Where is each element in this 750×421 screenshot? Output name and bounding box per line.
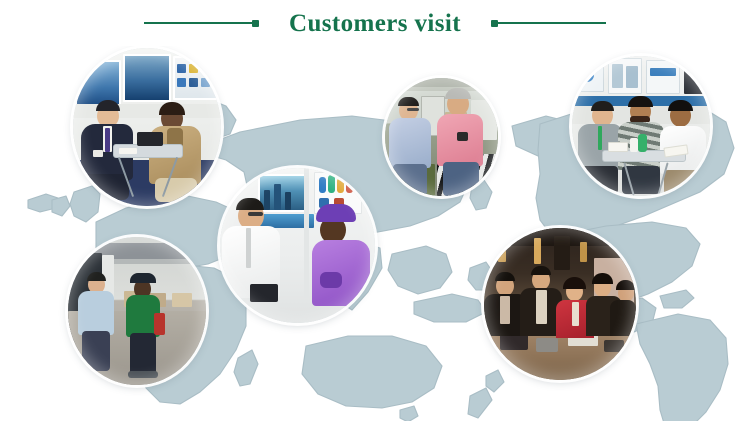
person-5-placket (246, 228, 251, 268)
person-9-lanyard (598, 126, 602, 150)
poster-building-2 (274, 184, 281, 210)
paper-cup (630, 138, 638, 152)
booth-counter (73, 104, 221, 118)
notebook (608, 142, 628, 152)
person-1-legs (83, 174, 129, 200)
person-8-jeans (443, 162, 479, 196)
landmass-caribbean (660, 290, 694, 308)
product-swatch-1 (177, 64, 186, 73)
pendant-light-2 (534, 238, 541, 264)
landmass-south-america (636, 314, 728, 421)
person-16-dark-suit (610, 300, 636, 336)
person-7-blue-shirt (389, 118, 431, 168)
crate-3 (172, 293, 192, 307)
product-box-2 (626, 66, 638, 88)
photo-circle-customer-negotiation[interactable] (572, 56, 710, 196)
title-decoration-right (491, 17, 606, 29)
decoration-dot-left (252, 20, 259, 27)
photo-4-scene (385, 78, 498, 196)
landmass-southeast-asia (388, 246, 452, 294)
person-12-inner-shirt (500, 296, 510, 324)
photo-2-scene (68, 237, 206, 385)
photo-circle-meeting-booth[interactable] (73, 48, 221, 206)
booth-divider (304, 168, 309, 298)
person-14-inner-shirt (572, 302, 579, 326)
person-6-hands (320, 272, 342, 288)
pendant-light-3 (580, 242, 587, 262)
person-9-trousers (580, 166, 618, 194)
pendant-light-1 (498, 240, 506, 262)
person-9-hair (591, 101, 614, 111)
laptop-center (250, 284, 278, 302)
person-13-hair (531, 266, 551, 275)
product-swatch-5 (189, 78, 198, 87)
page-title: Customers visit (259, 11, 491, 36)
decoration-line-left (144, 22, 252, 24)
photo-circle-plant-visit[interactable] (385, 78, 498, 196)
shelf-product-4 (346, 176, 353, 193)
person-2-legs (155, 178, 197, 202)
photo-5-scene (572, 56, 710, 196)
person-4-cap (130, 273, 156, 283)
person-8-pocket-item (457, 132, 468, 141)
product-swatch-3 (201, 64, 210, 73)
person-4-shoes (128, 371, 158, 378)
documents (119, 148, 137, 154)
shelf-product-3 (337, 178, 344, 193)
logo-circle (580, 68, 594, 82)
person-16-hair (616, 280, 635, 290)
photo-1-scene (73, 48, 221, 206)
person-8-grey-hair (445, 88, 471, 99)
ceiling-beam (385, 78, 498, 87)
person-7-jeans (393, 164, 427, 196)
landmass-australia (302, 336, 442, 408)
product-box-1 (612, 64, 623, 88)
person-3-trousers (82, 331, 110, 371)
wall-display-3 (646, 60, 680, 94)
product-swatch-4 (177, 78, 186, 87)
poster-building-1 (264, 190, 270, 210)
page-header: Customers visit (0, 0, 750, 46)
landmass-tasmania (400, 406, 418, 421)
landmass-madagascar (234, 350, 258, 386)
poster-building-3 (285, 192, 291, 210)
green-bottle (638, 134, 647, 152)
photo-circle-showroom-group[interactable] (484, 228, 636, 380)
decoration-line-right (498, 22, 606, 24)
dark-fixture (554, 236, 570, 270)
person-6-purple-cap (316, 204, 356, 222)
landmass-new-zealand-south (468, 388, 492, 418)
red-folder (154, 313, 165, 335)
person-1-tie (105, 128, 110, 152)
laptop (137, 132, 163, 146)
ceiling-rail (401, 87, 485, 91)
product-display-2 (536, 338, 558, 352)
product-swatch-2 (189, 64, 198, 73)
landmass-ireland (52, 196, 70, 216)
photo-circle-warehouse-visit[interactable] (68, 237, 206, 385)
photo-6-scene (484, 228, 636, 380)
shelf-product-2 (328, 175, 335, 193)
person-11-khakis (664, 170, 704, 196)
dark-equipment (684, 64, 708, 94)
shelf-product-1 (319, 177, 326, 193)
photo-circle-booth-consultation[interactable] (220, 168, 375, 323)
display-panel-1 (75, 60, 121, 106)
product-display-4 (604, 340, 624, 352)
person-13-inner-shirt (536, 290, 547, 324)
person-7-glasses (407, 108, 419, 111)
landmass-indonesia (414, 294, 486, 322)
person-1-badge (93, 150, 103, 157)
person-12-hair (495, 272, 515, 281)
person-7-hair (398, 97, 419, 106)
person-4-trousers (130, 333, 156, 375)
product-display-1 (500, 334, 528, 350)
title-decoration-left (144, 17, 259, 29)
decoration-dot-right (491, 20, 498, 27)
person-5-glasses (248, 212, 263, 216)
display-panel-2 (123, 54, 171, 102)
product-swatch-6 (201, 78, 210, 87)
photo-3-scene (220, 168, 375, 323)
person-3-shirt (78, 291, 114, 335)
banner-strip (650, 68, 676, 76)
